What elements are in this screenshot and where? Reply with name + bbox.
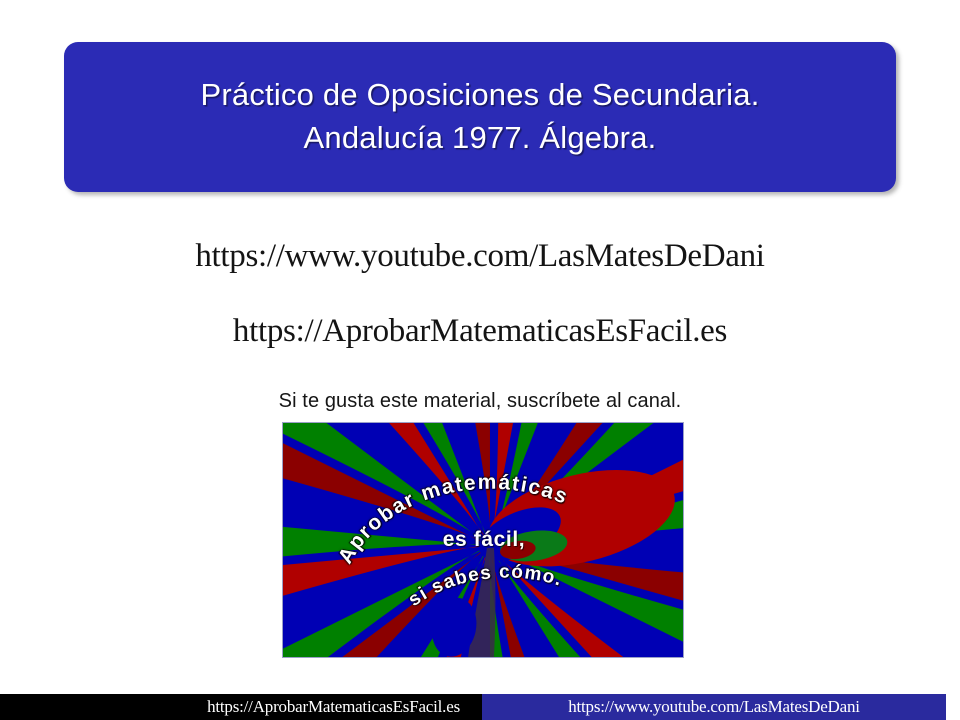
banner-title-line-2: Andalucía 1977. Álgebra. (304, 117, 657, 160)
channel-logo-image: Aprobar matemáticas es fácil, si sabes c… (282, 422, 684, 658)
footer-website-url: https://AprobarMatematicasEsFacil.es (207, 697, 460, 717)
footer-youtube-url: https://www.youtube.com/LasMatesDeDani (568, 697, 860, 717)
footer-website-section[interactable]: https://AprobarMatematicasEsFacil.es (0, 694, 482, 720)
footer-youtube-section[interactable]: https://www.youtube.com/LasMatesDeDani (482, 694, 946, 720)
website-url[interactable]: https://AprobarMatematicasEsFacil.es (0, 313, 960, 350)
footer-bar: https://AprobarMatematicasEsFacil.es htt… (0, 694, 946, 720)
logo-starburst-rays (283, 423, 683, 657)
youtube-channel-url[interactable]: https://www.youtube.com/LasMatesDeDani (0, 238, 960, 275)
banner-title-line-1: Práctico de Oposiciones de Secundaria. (200, 74, 759, 117)
title-banner: Práctico de Oposiciones de Secundaria. A… (64, 42, 896, 192)
subscribe-note: Si te gusta este material, suscríbete al… (0, 390, 960, 413)
